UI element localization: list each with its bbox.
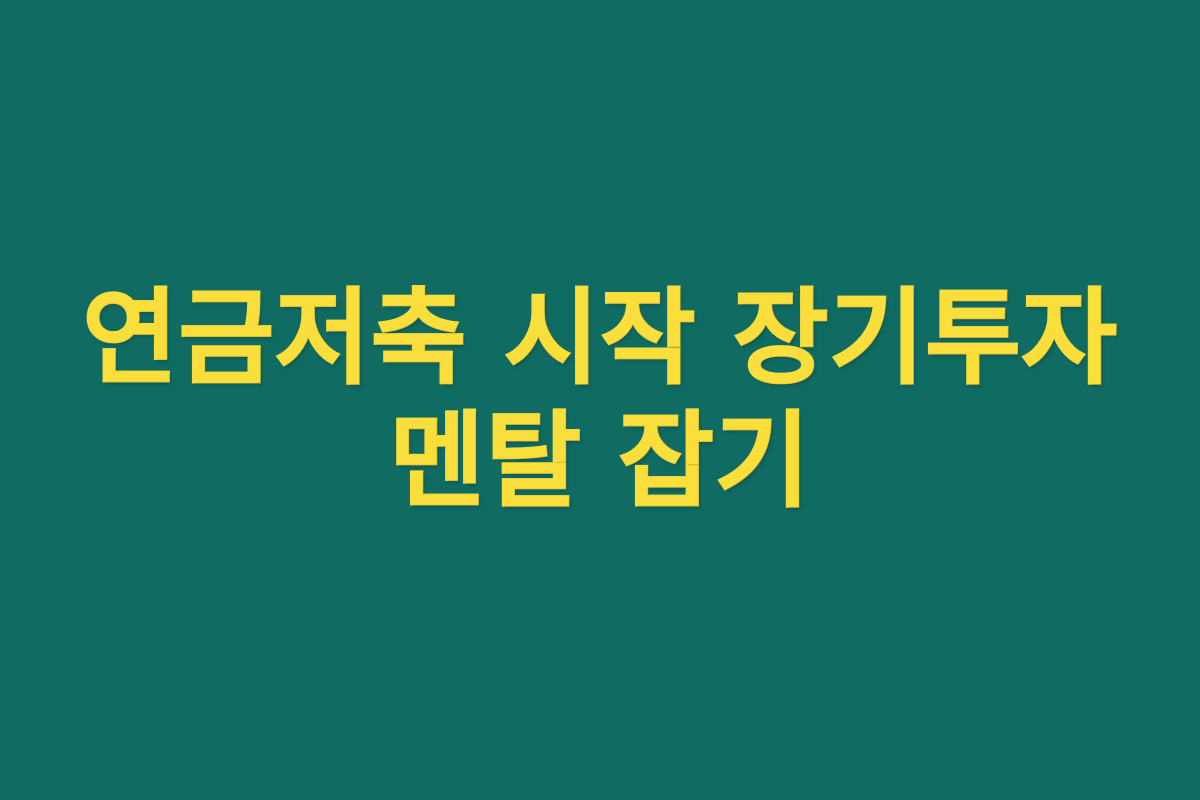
title-line-2: 멘탈 잡기 — [50, 400, 1150, 523]
title-line-1: 연금저축 시작 장기투자 — [50, 277, 1150, 400]
title-block: 연금저축 시작 장기투자 멘탈 잡기 — [50, 277, 1150, 522]
banner-canvas: 연금저축 시작 장기투자 멘탈 잡기 — [0, 0, 1200, 800]
